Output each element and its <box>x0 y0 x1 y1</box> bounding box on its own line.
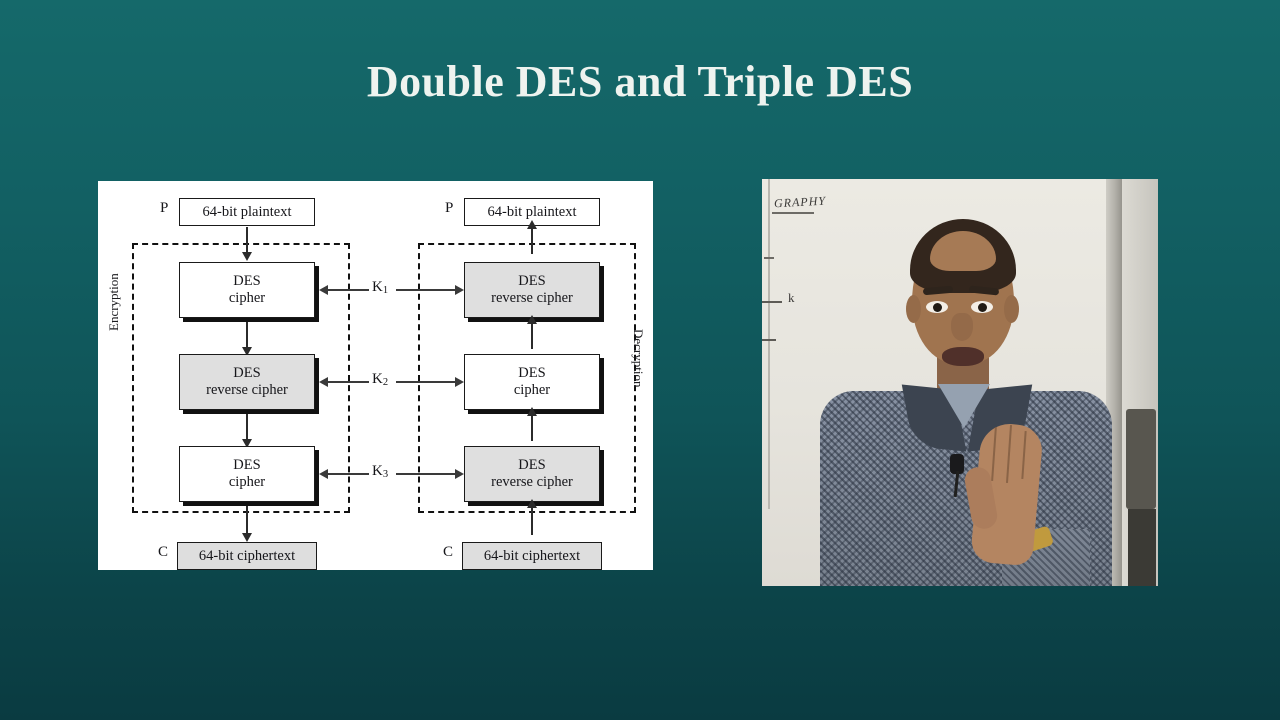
encryption-plaintext-tag: P <box>160 200 168 217</box>
page-title: Double DES and Triple DES <box>0 56 1280 107</box>
encryption-ciphertext-tag: C <box>158 544 168 561</box>
whiteboard-symbol-k: k <box>788 290 795 306</box>
encryption-plaintext-box: 64-bit plaintext <box>179 198 315 226</box>
key-label-2-index: 2 <box>383 377 388 388</box>
key-label-3-name: K <box>372 463 383 479</box>
arrow-dec-stage2-to-stage1 <box>531 323 533 349</box>
presenter-mouth <box>942 347 984 366</box>
decryption-plaintext-tag: P <box>445 200 453 217</box>
presenter-nose <box>951 313 973 341</box>
room-object-lower <box>1128 509 1156 586</box>
arrow-key3-to-encryption <box>327 473 369 475</box>
decryption-stage-3-line1: DES <box>518 457 545 474</box>
whiteboard-edge <box>768 179 770 509</box>
key-label-2: K2 <box>372 371 388 388</box>
key-label-1-name: K <box>372 279 383 295</box>
encryption-stage-1-line1: DES <box>233 273 260 290</box>
whiteboard-underline <box>772 212 814 214</box>
encryption-stage-3-line2: cipher <box>229 474 265 491</box>
des-block-diagram: Encryption Decryption P 64-bit plaintext… <box>98 181 653 570</box>
arrow-enc-stage1-to-stage2 <box>246 322 248 348</box>
decryption-ciphertext-tag: C <box>443 544 453 561</box>
arrow-enc-stage3-to-ciphertext <box>246 506 248 534</box>
arrow-dec-ciphertext-to-stage3 <box>531 507 533 535</box>
presenter-pupil-right <box>978 303 987 312</box>
encryption-stage-1-line2: cipher <box>229 290 265 307</box>
presenter-pupil-left <box>933 303 942 312</box>
decryption-stage-1-line2: reverse cipher <box>491 290 573 307</box>
encryption-stage-3-line1: DES <box>233 457 260 474</box>
key-label-3-index: 3 <box>383 469 388 480</box>
room-object-upper <box>1126 409 1156 509</box>
arrow-enc-plaintext-to-stage1 <box>246 227 248 253</box>
presenter-ear-right <box>1004 295 1019 323</box>
decryption-stage-2: DES cipher <box>464 354 600 410</box>
key-label-2-name: K <box>372 371 383 387</box>
encryption-stage-1: DES cipher <box>179 262 315 318</box>
encryption-stage-3: DES cipher <box>179 446 315 502</box>
arrow-enc-stage2-to-stage3 <box>246 414 248 440</box>
arrow-key3-to-decryption <box>396 473 456 475</box>
decryption-stage-1: DES reverse cipher <box>464 262 600 318</box>
decryption-ciphertext-box: 64-bit ciphertext <box>462 542 602 570</box>
whiteboard-mark-top <box>764 257 774 259</box>
encryption-stage-2-line2: reverse cipher <box>206 382 288 399</box>
decryption-stage-1-line1: DES <box>518 273 545 290</box>
encryption-region-label: Encryption <box>106 273 122 331</box>
decryption-stage-3-line2: reverse cipher <box>491 474 573 491</box>
arrow-key1-to-encryption <box>327 289 369 291</box>
encryption-stage-2-line1: DES <box>233 365 260 382</box>
whiteboard-mark-middle <box>762 301 782 303</box>
decryption-region-label: Decryption <box>630 329 646 387</box>
arrow-dec-stage1-to-plaintext <box>531 228 533 254</box>
diagram-image-panel: Encryption Decryption P 64-bit plaintext… <box>98 181 653 570</box>
presenter-ear-left <box>906 295 921 323</box>
decryption-stage-3: DES reverse cipher <box>464 446 600 502</box>
encryption-stage-2: DES reverse cipher <box>179 354 315 410</box>
arrow-key1-to-decryption <box>396 289 456 291</box>
whiteboard-handwriting-text: GRAPHY <box>774 194 827 212</box>
key-label-1-index: 1 <box>383 285 388 296</box>
key-label-3: K3 <box>372 463 388 480</box>
whiteboard-mark-lower <box>762 339 776 341</box>
arrow-key2-to-decryption <box>396 381 456 383</box>
encryption-ciphertext-box: 64-bit ciphertext <box>177 542 317 570</box>
decryption-stage-2-line1: DES <box>518 365 545 382</box>
arrow-key2-to-encryption <box>327 381 369 383</box>
arrow-dec-stage3-to-stage2 <box>531 415 533 441</box>
decryption-stage-2-line2: cipher <box>514 382 550 399</box>
key-label-1: K1 <box>372 279 388 296</box>
presenter-video-panel: GRAPHY k <box>762 179 1158 586</box>
